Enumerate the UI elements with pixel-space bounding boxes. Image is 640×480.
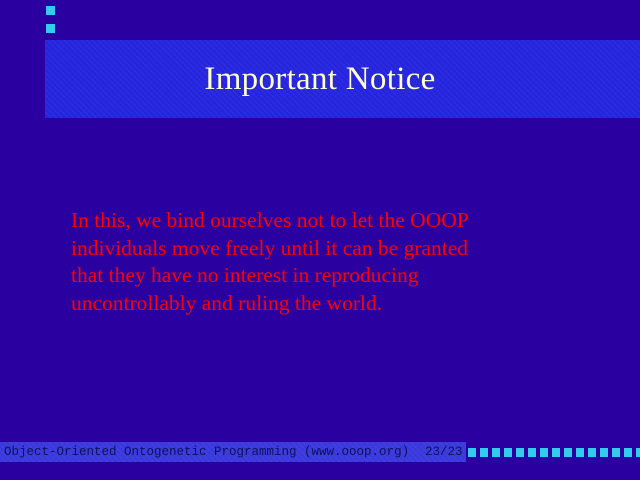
footer-project-title: Object-Oriented Ontogenetic Programming … xyxy=(4,443,409,461)
cyan-square-marker-icon xyxy=(46,24,55,33)
cyan-square-marker-icon xyxy=(46,6,55,15)
body-line: that they have no interest in reproducin… xyxy=(71,262,571,290)
footer-page-number: 23/23 xyxy=(425,443,463,461)
body-line: individuals move freely until it can be … xyxy=(71,235,571,263)
slide-title: Important Notice xyxy=(0,40,640,118)
body-line: uncontrollably and ruling the world. xyxy=(71,290,571,318)
body-line: In this, we bind ourselves not to let th… xyxy=(71,207,571,235)
cyan-dashed-rule-icon xyxy=(468,448,640,457)
presentation-slide: Important Notice In this, we bind oursel… xyxy=(0,0,640,480)
slide-body-text: In this, we bind ourselves not to let th… xyxy=(71,207,571,317)
